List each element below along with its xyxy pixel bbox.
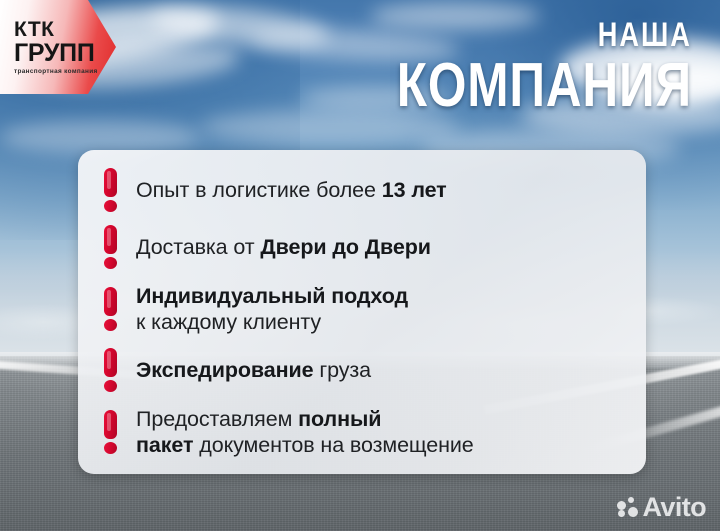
page-title-line2: КОМПАНИЯ bbox=[397, 54, 692, 117]
company-logo: КТК ГРУПП транспортная компания bbox=[0, 0, 116, 94]
poster-canvas: КТК ГРУПП транспортная компания НАША КОМ… bbox=[0, 0, 720, 531]
feature-item: Доставка от Двери до Двери bbox=[104, 225, 626, 269]
feature-item: Предоставляем полныйпакет документов на … bbox=[104, 406, 626, 458]
page-title: НАША КОМПАНИЯ bbox=[323, 18, 692, 117]
feature-item-label: Доставка от Двери до Двери bbox=[136, 234, 431, 260]
feature-item-label: Индивидуальный подходк каждому клиенту bbox=[136, 283, 408, 335]
features-card: Опыт в логистике более 13 летДоставка от… bbox=[78, 150, 646, 474]
avito-label: Avito bbox=[643, 494, 707, 521]
feature-item-label: Предоставляем полныйпакет документов на … bbox=[136, 406, 474, 458]
exclamation-mark-icon bbox=[104, 168, 118, 212]
logo-name: КТК bbox=[14, 19, 55, 40]
avito-dots-icon bbox=[617, 497, 638, 518]
feature-item-label: Экспедирование груза bbox=[136, 357, 371, 383]
exclamation-mark-icon bbox=[104, 410, 118, 454]
page-title-line1: НАША bbox=[397, 18, 692, 52]
exclamation-mark-icon bbox=[104, 348, 118, 392]
feature-item: Индивидуальный подходк каждому клиенту bbox=[104, 283, 626, 335]
logo-word: ГРУПП bbox=[14, 41, 95, 66]
exclamation-mark-icon bbox=[104, 287, 118, 331]
feature-item: Экспедирование груза bbox=[104, 348, 626, 392]
logo-tagline: транспортная компания bbox=[14, 69, 98, 75]
feature-item: Опыт в логистике более 13 лет bbox=[104, 168, 626, 212]
exclamation-mark-icon bbox=[104, 225, 118, 269]
features-list: Опыт в логистике более 13 летДоставка от… bbox=[104, 168, 626, 458]
feature-item-label: Опыт в логистике более 13 лет bbox=[136, 177, 447, 203]
avito-watermark: Avito bbox=[617, 494, 707, 521]
